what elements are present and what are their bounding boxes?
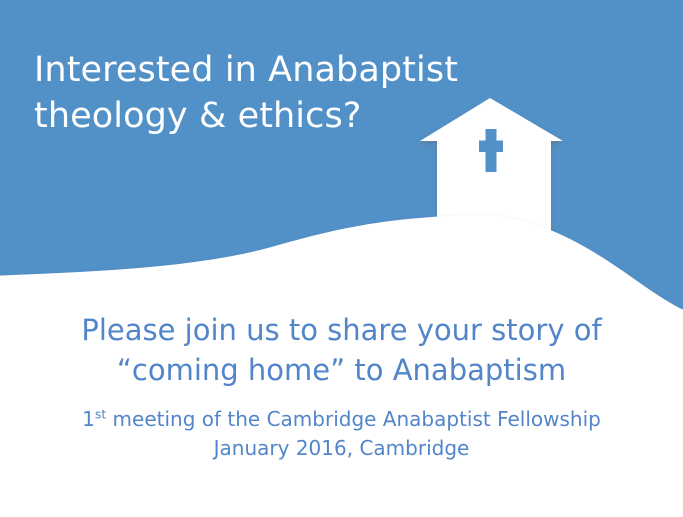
subhead-line-1: Please join us to share your story of bbox=[0, 310, 683, 350]
headline-text: Interested in Anabaptist theology & ethi… bbox=[34, 48, 454, 139]
meeting-line-rest: meeting of the Cambridge Anabaptist Fell… bbox=[106, 407, 601, 431]
subhead-text: Please join us to share your story of “c… bbox=[0, 310, 683, 390]
meeting-details-line-1: 1st meeting of the Cambridge Anabaptist … bbox=[0, 405, 683, 434]
slide-text-content: Interested in Anabaptist theology & ethi… bbox=[0, 0, 683, 517]
ordinal-number: 1 bbox=[82, 407, 95, 431]
ordinal-suffix: st bbox=[95, 406, 106, 421]
headline-line-1: Interested in Anabaptist bbox=[34, 48, 454, 94]
subhead-line-2: “coming home” to Anabaptism bbox=[0, 350, 683, 390]
meeting-details-text: 1st meeting of the Cambridge Anabaptist … bbox=[0, 405, 683, 463]
slide-canvas: Interested in Anabaptist theology & ethi… bbox=[0, 0, 683, 517]
headline-line-2: theology & ethics? bbox=[34, 94, 454, 140]
meeting-details-line-2: January 2016, Cambridge bbox=[0, 434, 683, 463]
